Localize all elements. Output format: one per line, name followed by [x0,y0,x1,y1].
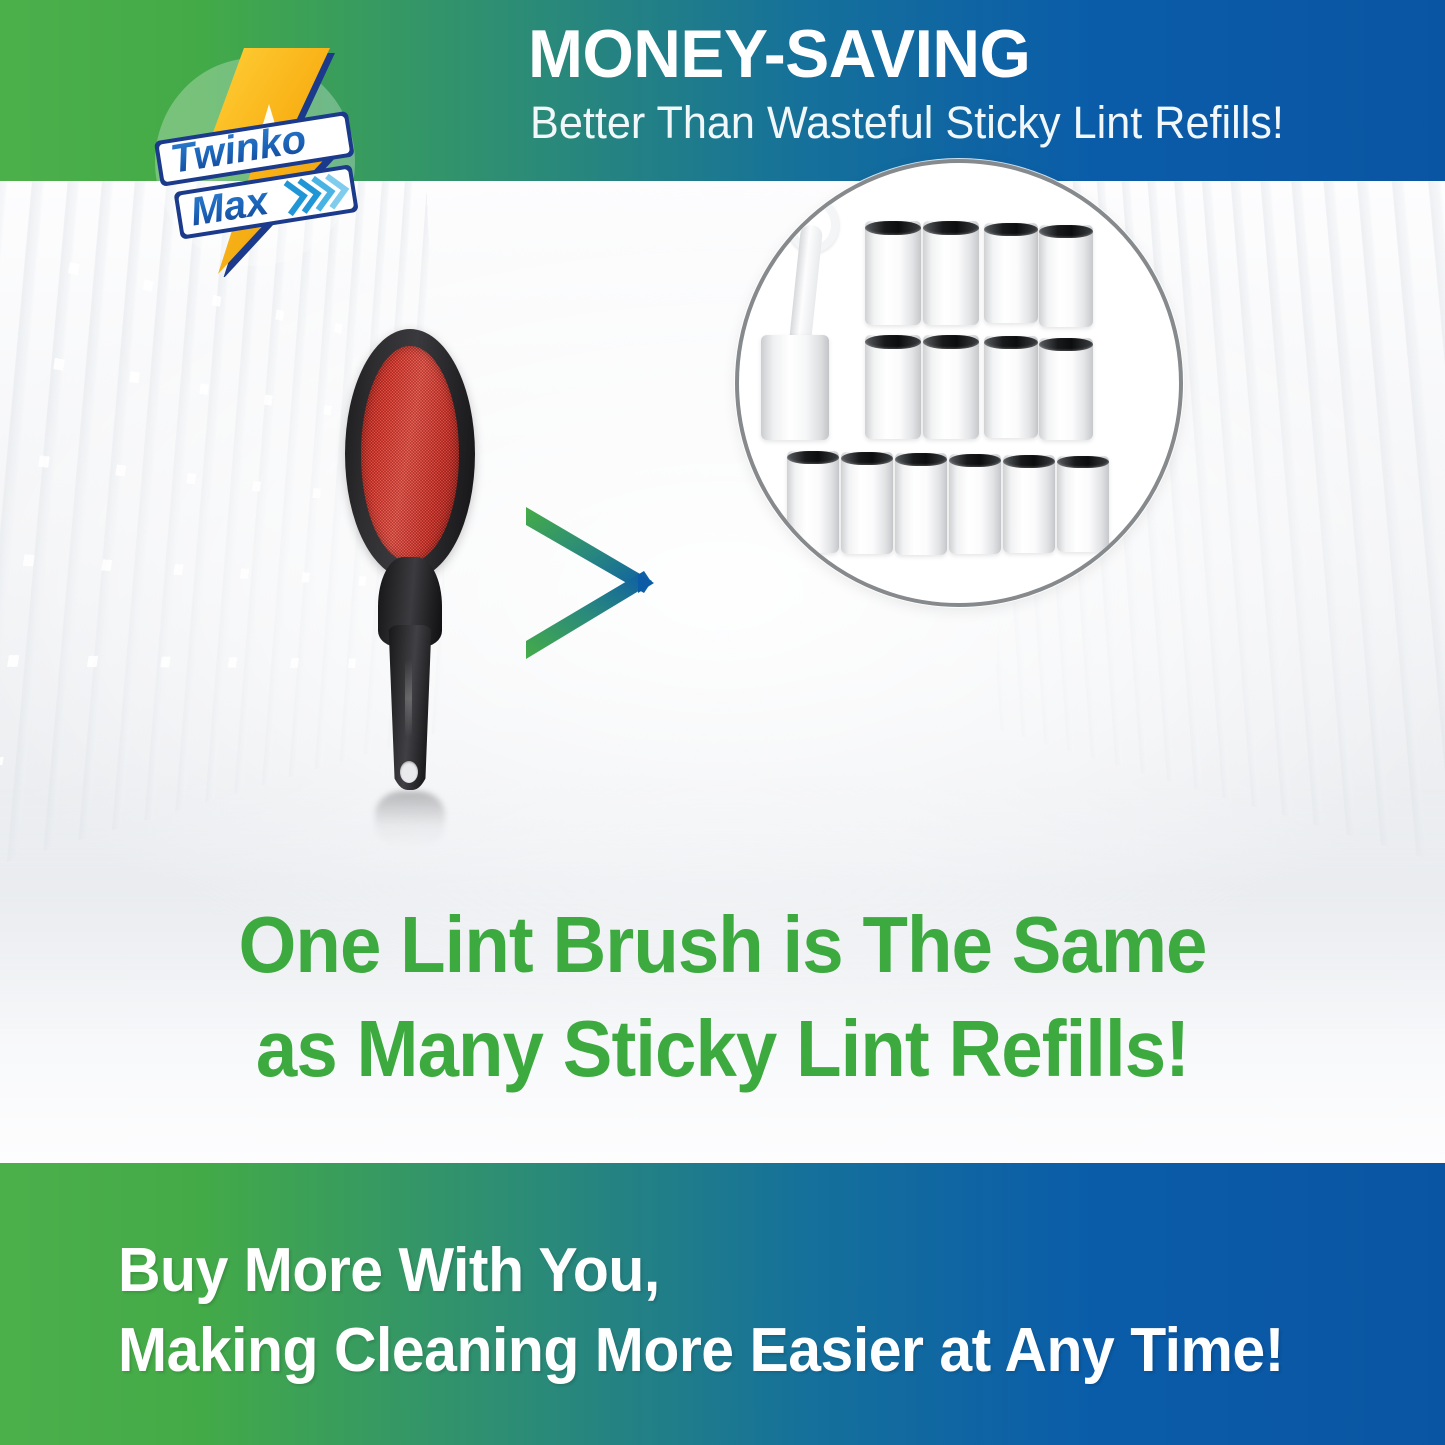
header-subtitle: Better Than Wasteful Sticky Lint Refills… [530,98,1394,148]
lint-brush-hang-hole [400,761,418,783]
brand-logo: Twinko Max [148,42,363,277]
lint-refills-circle [735,159,1183,607]
lint-refill-roll [895,453,947,555]
lint-refill-roll [949,454,1001,554]
lint-refill-roll [923,221,979,325]
green-headline-line-2: as Many Sticky Lint Refills! [51,997,1395,1101]
lint-refill-roll [841,452,893,554]
lint-refill-roll [1057,456,1109,552]
header-title: MONEY-SAVING [528,18,1382,90]
lint-refill-roll [787,451,839,553]
brand-logo-icon: Twinko Max [148,42,363,277]
lint-brush-reflection [375,791,445,849]
green-headline: One Lint Brush is The Same as Many Stick… [0,893,1445,1101]
lint-brush-product [345,329,475,799]
lint-refill-roll [923,335,979,439]
lint-refill-roll [1003,455,1055,553]
footer-text: Buy More With You, Making Cleaning More … [118,1231,1398,1391]
lint-refill-roll [1039,338,1093,440]
lint-refill-roll [865,335,921,439]
lint-refill-roll [984,336,1038,438]
lint-refill-roll [865,221,921,325]
lint-refill-roll [1039,225,1093,327]
product-marketing-image: Twinko Max MONEY-SAVING Better Than Wast… [0,0,1445,1445]
lint-brush-head [345,329,475,579]
footer-line-1: Buy More With You, [118,1231,1334,1311]
lint-brush-fabric-pad [361,346,459,562]
green-headline-line-1: One Lint Brush is The Same [51,893,1395,997]
lint-brush-handle-groove [405,659,412,737]
greater-than-icon [520,499,660,669]
lint-refill-roll [984,223,1038,323]
footer-line-2: Making Cleaning More Easier at Any Time! [118,1311,1334,1391]
roller-with-handle-roll [761,335,829,440]
